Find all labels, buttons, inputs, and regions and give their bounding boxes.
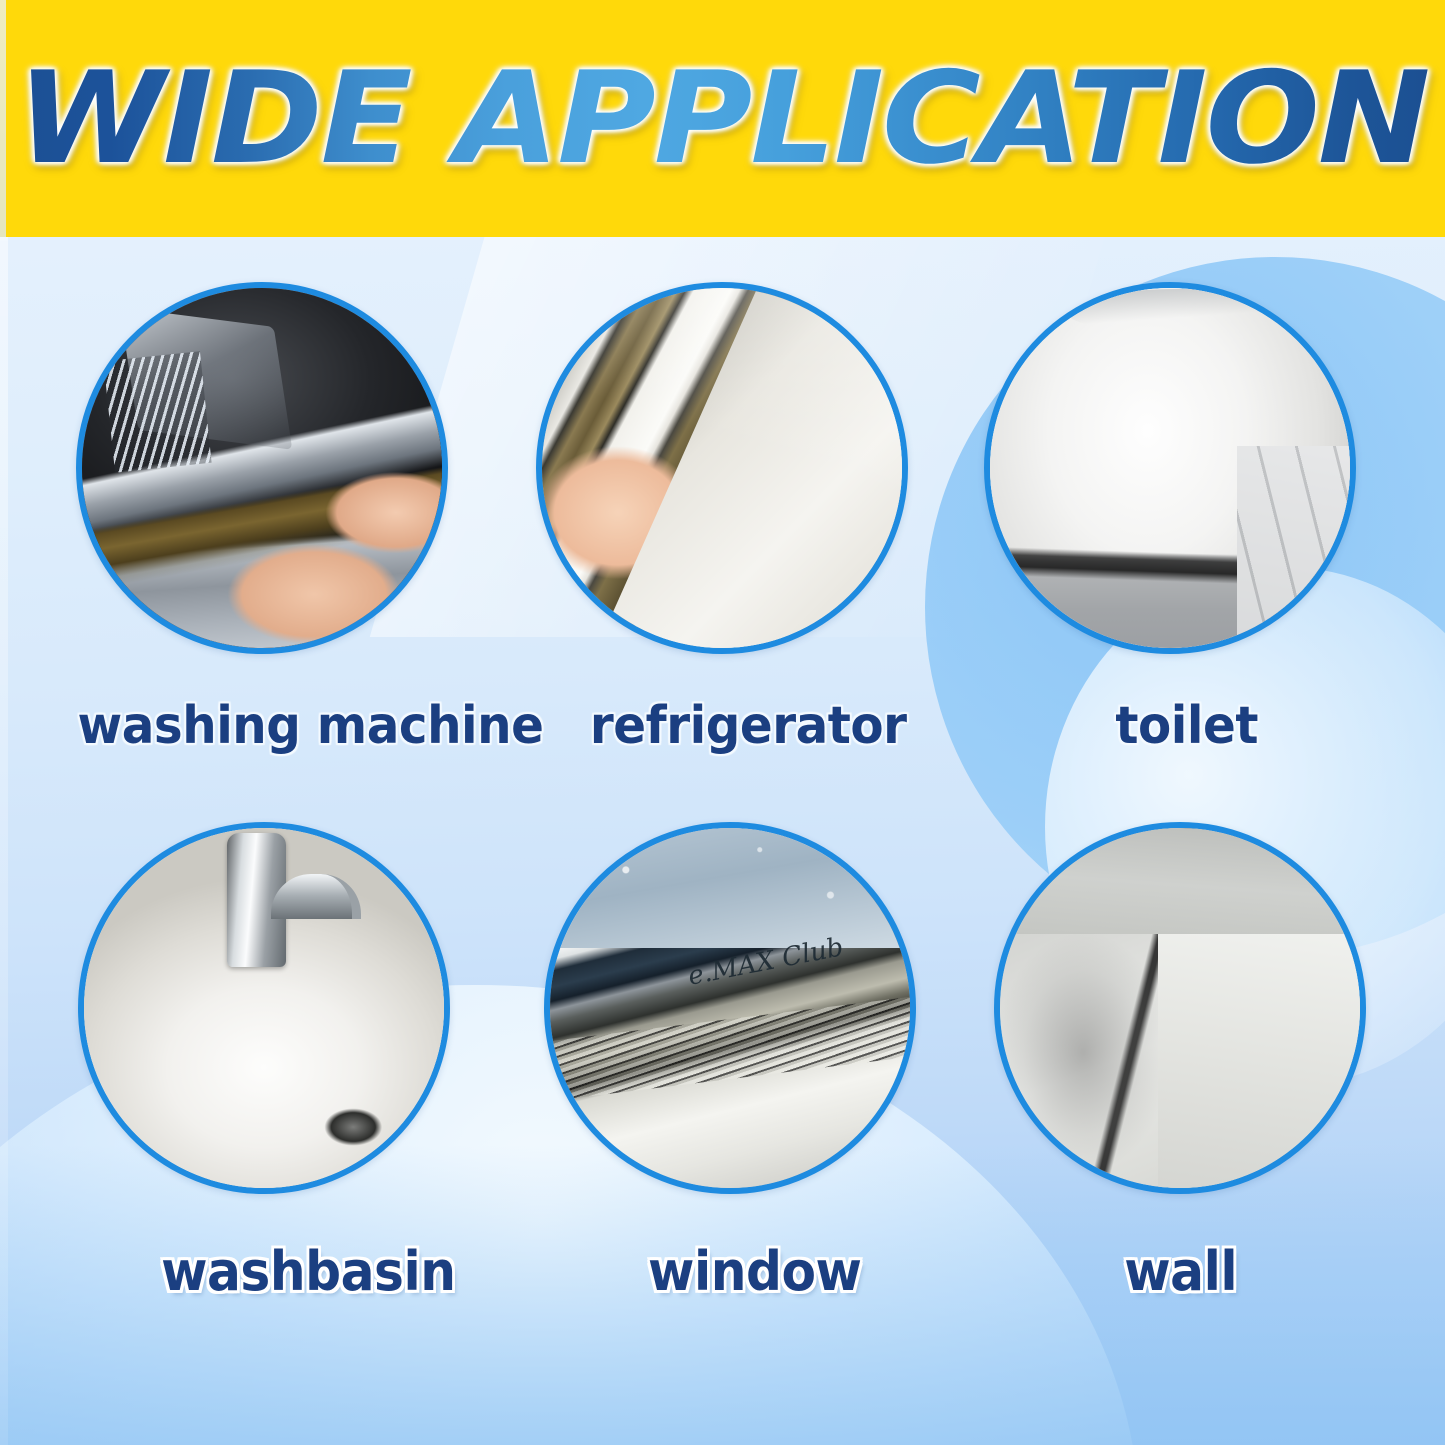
toilet-bubble[interactable]	[984, 282, 1356, 654]
application-item-wall[interactable]: wall	[960, 782, 1445, 1322]
wall-corner-mold-photo	[994, 822, 1366, 1194]
header-banner: WIDE APPLICATION	[0, 0, 1445, 237]
washing-machine-drum-grime-photo	[76, 282, 448, 654]
application-item-window[interactable]: e.MAX Club window	[500, 782, 960, 1322]
window-frame-mold-photo	[544, 822, 916, 1194]
application-item-refrigerator[interactable]: refrigerator	[500, 237, 960, 767]
refrigerator-door-seal-mold-photo	[536, 282, 908, 654]
application-label-wall: wall	[1124, 1242, 1237, 1302]
application-label-washing-machine: washing machine	[78, 697, 544, 755]
application-grid: washing machine refrigerator toilet wash…	[0, 237, 1445, 1445]
washing-machine-bubble[interactable]	[76, 282, 448, 654]
washbasin-bubble[interactable]	[78, 822, 450, 1194]
application-item-toilet[interactable]: toilet	[960, 237, 1445, 767]
infographic-page: WIDE APPLICATION washing machine refrige…	[0, 0, 1445, 1445]
window-bubble[interactable]: e.MAX Club	[544, 822, 916, 1194]
toilet-base-mold-photo	[984, 282, 1356, 654]
refrigerator-bubble[interactable]	[536, 282, 908, 654]
page-title: WIDE APPLICATION	[0, 50, 1445, 186]
application-label-refrigerator: refrigerator	[590, 697, 907, 755]
application-label-washbasin: washbasin	[161, 1242, 455, 1302]
application-label-toilet: toilet	[1115, 697, 1258, 755]
application-item-washbasin[interactable]: washbasin	[0, 782, 500, 1322]
washbasin-faucet-stains-photo	[78, 822, 450, 1194]
wall-bubble[interactable]	[994, 822, 1366, 1194]
application-label-window: window	[648, 1242, 861, 1302]
application-item-washing-machine[interactable]: washing machine	[0, 237, 500, 767]
